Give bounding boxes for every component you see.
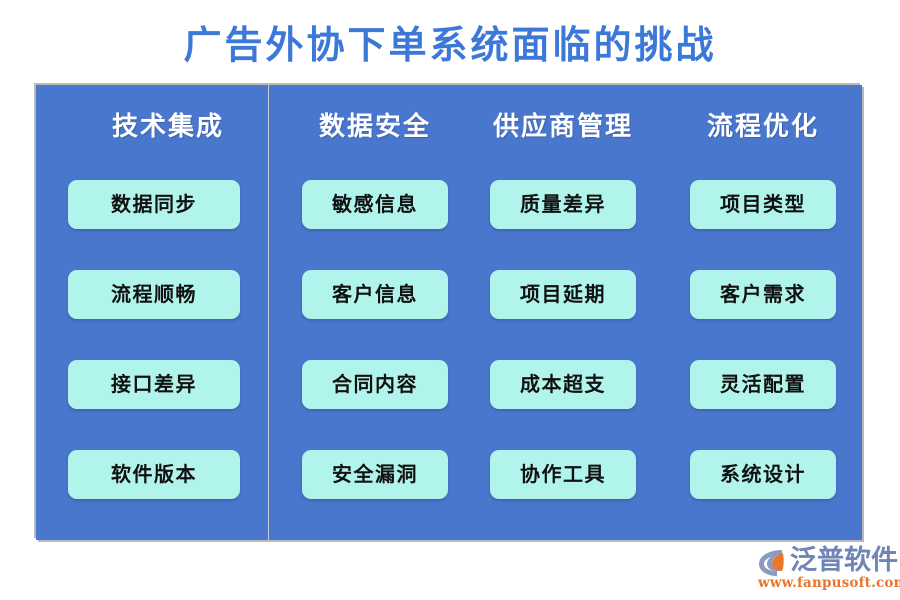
challenge-cell[interactable]: 客户需求 <box>690 270 836 319</box>
challenge-cell[interactable]: 协作工具 <box>490 450 636 499</box>
challenge-cell[interactable]: 质量差异 <box>490 180 636 229</box>
challenge-cell[interactable]: 数据同步 <box>68 180 240 229</box>
challenge-cell[interactable]: 合同内容 <box>302 360 448 409</box>
challenge-cell[interactable]: 成本超支 <box>490 360 636 409</box>
fanpu-swoosh-icon <box>756 548 790 578</box>
challenge-cell[interactable]: 敏感信息 <box>302 180 448 229</box>
challenge-cell[interactable]: 客户信息 <box>302 270 448 319</box>
challenge-cells-grid: 数据同步 流程顺畅 接口差异 软件版本 敏感信息 客户信息 合同内容 安全漏洞 … <box>36 85 862 540</box>
challenge-cell[interactable]: 流程顺畅 <box>68 270 240 319</box>
challenge-cell[interactable]: 项目类型 <box>690 180 836 229</box>
challenge-cell[interactable]: 系统设计 <box>690 450 836 499</box>
challenge-cell[interactable]: 接口差异 <box>68 360 240 409</box>
page-title: 广告外协下单系统面临的挑战 <box>0 20 900 70</box>
challenge-cell[interactable]: 安全漏洞 <box>302 450 448 499</box>
brand-url: www.fanpusoft.com <box>758 575 900 591</box>
brand-name: 泛普软件 <box>790 545 898 577</box>
challenge-cell[interactable]: 软件版本 <box>68 450 240 499</box>
challenges-panel: 技术集成 数据安全 供应商管理 流程优化 数据同步 流程顺畅 接口差异 软件版本… <box>36 85 862 540</box>
brand-logo: 泛普软件 www.fanpusoft.com <box>756 546 896 594</box>
challenge-cell[interactable]: 灵活配置 <box>690 360 836 409</box>
challenge-cell[interactable]: 项目延期 <box>490 270 636 319</box>
